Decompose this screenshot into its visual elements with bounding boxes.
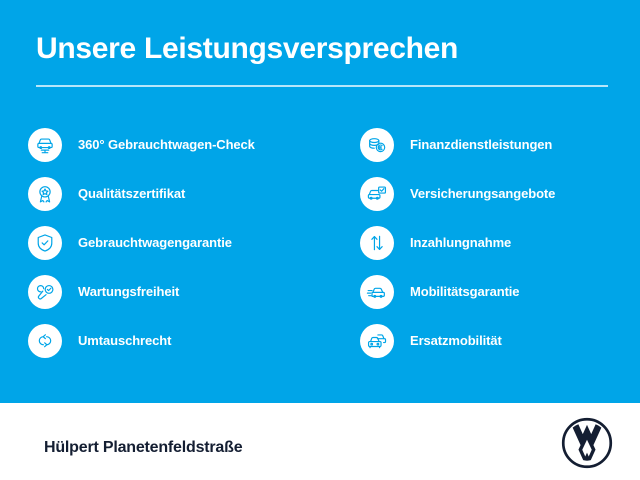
award-rosette-icon <box>28 177 62 211</box>
page-title: Unsere Leistungsversprechen <box>36 32 458 66</box>
footer-bar: Hülpert Planetenfeldstraße <box>0 403 640 480</box>
list-item[interactable]: 360° Gebrauchtwagen-Check <box>28 120 318 169</box>
list-item[interactable]: Umtauschrecht <box>28 316 318 365</box>
list-item-label: Umtauschrecht <box>78 333 171 348</box>
car-insurance-check-icon <box>360 177 394 211</box>
list-item-label: Mobilitätsgarantie <box>410 284 519 299</box>
volkswagen-logo <box>560 416 614 470</box>
list-item[interactable]: Wartungsfreiheit <box>28 267 318 316</box>
list-item-label: Finanzdienstleistungen <box>410 137 552 152</box>
car-motion-icon <box>360 275 394 309</box>
list-item-label: Versicherungsangebote <box>410 186 555 201</box>
list-item[interactable]: Qualitätszertifikat <box>28 169 318 218</box>
benefits-container: 360° Gebrauchtwagen-Check Qualitätszerti… <box>0 120 640 370</box>
list-item[interactable]: Gebrauchtwagengarantie <box>28 218 318 267</box>
list-item[interactable]: Finanzdienstleistungen <box>360 120 640 169</box>
list-item[interactable]: Versicherungsangebote <box>360 169 640 218</box>
promo-banner: Unsere Leistungsversprechen <box>0 0 640 480</box>
arrows-up-down-icon <box>360 226 394 260</box>
wrench-check-icon <box>28 275 62 309</box>
shield-check-icon <box>28 226 62 260</box>
list-item[interactable]: Inzahlungnahme <box>360 218 640 267</box>
dealer-name: Hülpert Planetenfeldstraße <box>44 439 242 457</box>
list-item-label: Inzahlungnahme <box>410 235 511 250</box>
list-item-label: Qualitätszertifikat <box>78 186 185 201</box>
title-divider <box>36 85 608 87</box>
list-item-label: Wartungsfreiheit <box>78 284 179 299</box>
exchange-arrows-icon <box>28 324 62 358</box>
benefits-left-column: 360° Gebrauchtwagen-Check Qualitätszerti… <box>28 120 318 365</box>
list-item-label: Gebrauchtwagengarantie <box>78 235 232 250</box>
list-item[interactable]: Mobilitätsgarantie <box>360 267 640 316</box>
car-inspection-lift-icon <box>28 128 62 162</box>
list-item-label: Ersatzmobilität <box>410 333 502 348</box>
benefits-right-column: Finanzdienstleistungen Versicheru <box>360 120 640 365</box>
list-item-label: 360° Gebrauchtwagen-Check <box>78 137 255 152</box>
hero-panel: Unsere Leistungsversprechen <box>0 0 640 403</box>
two-cars-icon <box>360 324 394 358</box>
list-item[interactable]: Ersatzmobilität <box>360 316 640 365</box>
coins-euro-icon <box>360 128 394 162</box>
